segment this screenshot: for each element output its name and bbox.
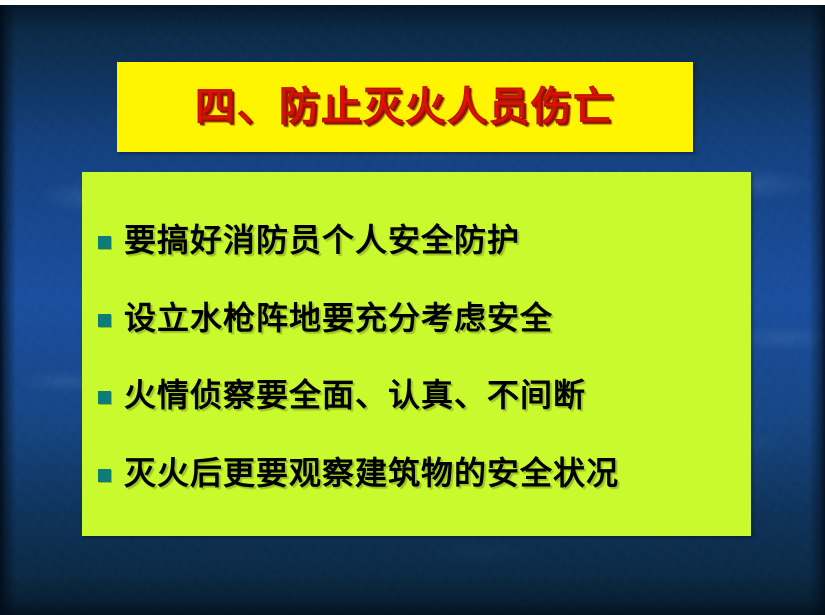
slide-top-edge-strip bbox=[0, 0, 825, 5]
bullet-item: 要搞好消防员个人安全防护 bbox=[90, 222, 731, 259]
square-bullet-icon bbox=[98, 236, 111, 249]
bullet-item: 设立水枪阵地要充分考虑安全 bbox=[90, 300, 731, 337]
slide-title-box: 四、防止灭火人员伤亡 bbox=[117, 62, 693, 152]
bullet-item-label: 火情侦察要全面、认真、不间断 bbox=[124, 377, 586, 414]
bullet-item: 火情侦察要全面、认真、不间断 bbox=[90, 377, 731, 414]
square-bullet-icon bbox=[98, 314, 111, 327]
slide-title-text: 四、防止灭火人员伤亡 bbox=[195, 87, 615, 127]
bullet-item-label: 灭火后更要观察建筑物的安全状况 bbox=[124, 455, 619, 492]
bullet-item-label: 要搞好消防员个人安全防护 bbox=[124, 222, 520, 259]
square-bullet-icon bbox=[98, 469, 111, 482]
bullet-item-label: 设立水枪阵地要充分考虑安全 bbox=[124, 300, 553, 337]
presentation-slide: 四、防止灭火人员伤亡 要搞好消防员个人安全防护 设立水枪阵地要充分考虑安全 火情… bbox=[0, 0, 825, 615]
bullet-item: 灭火后更要观察建筑物的安全状况 bbox=[90, 455, 731, 492]
slide-content-box: 要搞好消防员个人安全防护 设立水枪阵地要充分考虑安全 火情侦察要全面、认真、不间… bbox=[82, 172, 751, 536]
square-bullet-icon bbox=[98, 391, 111, 404]
